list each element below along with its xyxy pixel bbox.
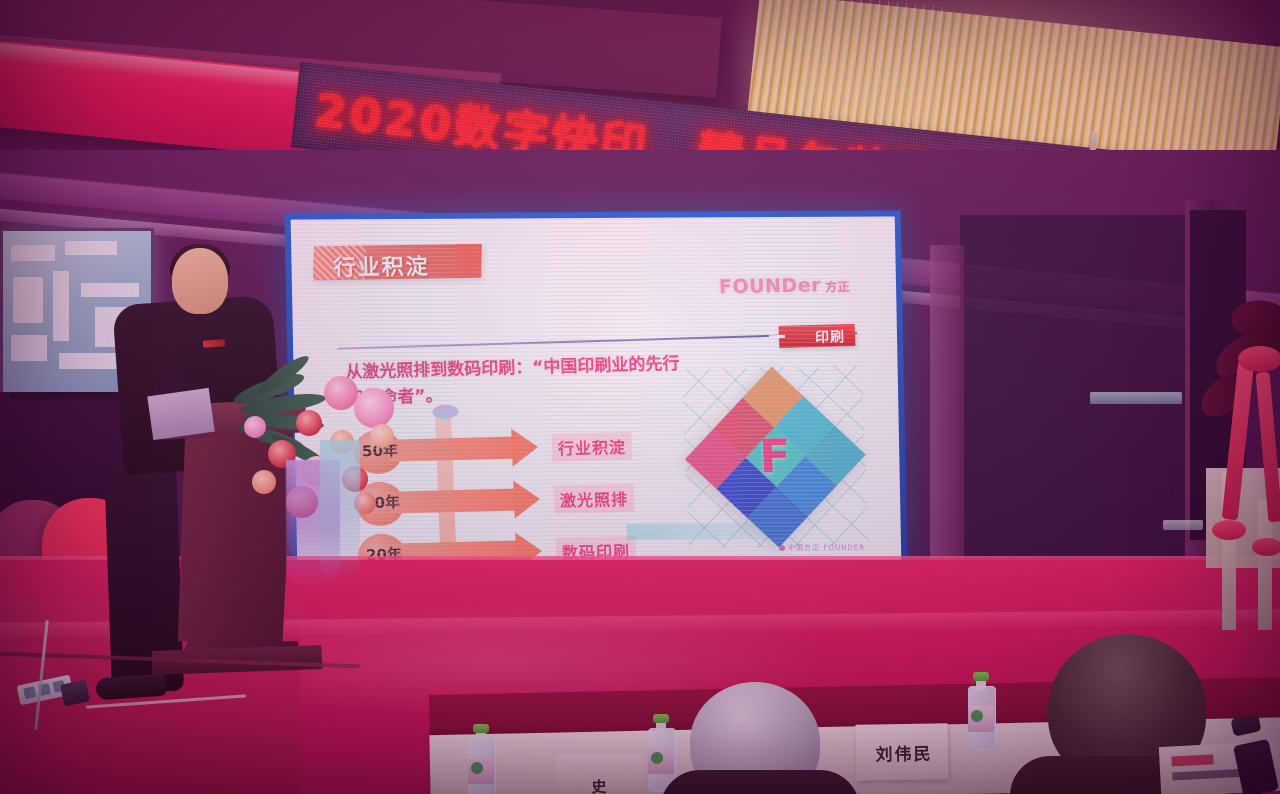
diamond-letter: F [758,429,792,484]
founder-logo-text: FOUNDer [719,274,822,298]
flower-bloom-7 [252,470,276,494]
timeline-arrow-head-icon [513,480,540,519]
timeline-arrow-shaft [390,489,519,514]
flower-bloom-9 [370,424,394,448]
footer-dot-icon [779,545,785,551]
wall-ledge [1090,392,1182,404]
timeline-row: 40年 激光照排 [355,476,696,524]
wall-ledge-secondary [1163,520,1203,530]
name-card-text: 刘伟民 [862,739,946,765]
podium-papers [147,388,215,440]
timeline-spine-cap [432,404,459,419]
flower-bloom-1 [354,388,394,428]
flower-bloom-2 [296,410,322,436]
timeline-arrow-head-icon [511,428,538,467]
wall-panel-right [960,215,1190,615]
water-bottle [968,672,994,748]
speaker-head [172,248,228,314]
print-badge-label: 印刷 [815,326,846,347]
conference-photo: 2020数字快印、精品包装印后解决方案巡回研讨会 行业积淀 FOUNDer方正 [0,0,1280,794]
basket-ribbon-bow [1212,520,1246,540]
slide-title: 行业积淀 [333,248,504,283]
basket-ribbon-bow [1238,346,1280,372]
timeline-label: 激光照排 [553,484,634,514]
name-card-text: 史 [560,775,640,794]
print-badge-tick [769,335,785,338]
document-gray-mark [1172,769,1242,781]
founder-diamond-graphic: F [682,365,869,550]
basket-ribbon-bow [1252,538,1280,556]
water-bottle [468,724,494,794]
hanging-flower-drape [320,440,360,580]
audience-shoulders [660,770,860,794]
timeline-label: 行业积淀 [551,432,632,462]
founder-logo-cn: 方正 [825,280,850,294]
slide-footer: 中国方正 FOUNDER [779,543,865,553]
timeline-arrow-shaft [388,437,517,462]
founder-logo: FOUNDer方正 [719,274,851,299]
flower-bloom-0 [324,376,358,410]
slide-footer-text: 中国方正 FOUNDER [788,544,865,552]
document-red-mark [1171,754,1213,766]
timeline-list: 50年 行业积淀 40年 激光照排 20年 数码印刷 [353,424,699,565]
water-bottle [648,714,674,790]
timeline-row: 50年 行业积淀 [353,424,694,472]
chandelier-strands [804,0,946,126]
flower-bloom-10 [244,416,266,438]
